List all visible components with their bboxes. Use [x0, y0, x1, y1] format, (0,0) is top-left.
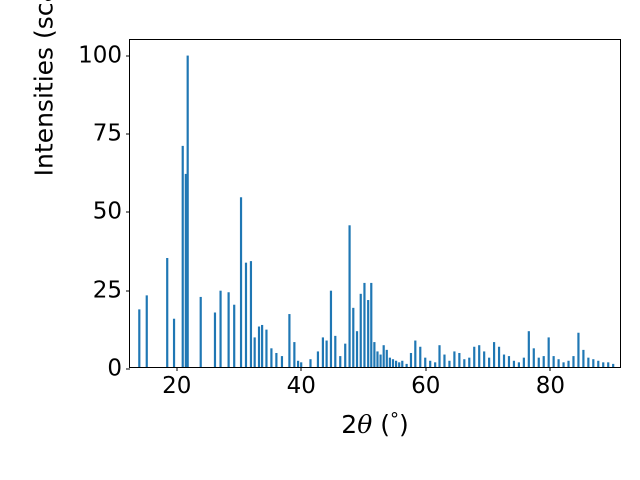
bars-layer	[130, 40, 620, 367]
bar	[523, 358, 525, 367]
bar	[562, 362, 564, 367]
bar	[379, 355, 381, 367]
bar	[200, 297, 202, 367]
bar	[587, 358, 589, 367]
bar	[488, 358, 490, 367]
bar	[352, 308, 354, 367]
bar	[406, 364, 408, 367]
y-axis-tick-mark	[126, 212, 130, 213]
bar	[370, 283, 372, 367]
y-axis-tick-mark	[126, 369, 130, 370]
bar	[261, 325, 263, 367]
bar	[543, 356, 545, 367]
bar	[258, 327, 260, 367]
bar	[429, 361, 431, 367]
bar	[182, 146, 184, 367]
bar	[538, 358, 540, 367]
bar	[410, 353, 412, 367]
bar	[138, 309, 140, 367]
plot-area	[130, 40, 620, 367]
bar	[518, 362, 520, 367]
bar	[146, 295, 148, 367]
y-axis-tick-mark	[126, 55, 130, 56]
bar	[330, 291, 332, 367]
bar	[607, 362, 609, 367]
bar	[326, 341, 328, 367]
bar	[363, 283, 365, 367]
bar	[468, 358, 470, 367]
bar	[453, 351, 455, 367]
bar	[275, 353, 277, 367]
bar	[334, 336, 336, 367]
bar	[473, 347, 475, 367]
y-axis-tick-mark	[126, 134, 130, 135]
bar	[443, 355, 445, 367]
bar	[602, 362, 604, 367]
bar	[281, 356, 283, 367]
x-axis-tick-label: 20	[162, 375, 191, 398]
xlabel-close-paren: )	[399, 410, 409, 439]
bar	[376, 351, 378, 367]
bar	[309, 359, 311, 367]
bar	[317, 351, 319, 367]
bar	[503, 355, 505, 367]
y-axis-tick-label: 50	[93, 201, 122, 224]
plot-axes-frame: 0255075100 20406080	[129, 39, 621, 368]
xlabel-theta-symbol: θ	[357, 410, 372, 439]
bar	[339, 356, 341, 367]
xlabel-open-paren: (	[372, 410, 390, 439]
bar	[360, 294, 362, 367]
bar	[185, 174, 187, 367]
bar	[419, 347, 421, 367]
bar	[297, 361, 299, 367]
bar	[356, 331, 358, 367]
y-axis-tick-label: 100	[78, 44, 122, 67]
bar	[434, 362, 436, 367]
bar	[401, 361, 403, 367]
bar	[187, 56, 189, 367]
x-axis-tick-mark	[301, 367, 302, 371]
bar	[553, 356, 555, 367]
bar	[386, 350, 388, 367]
bar	[448, 361, 450, 367]
bar	[438, 345, 440, 367]
bar	[228, 292, 230, 367]
bar	[344, 344, 346, 367]
bar	[478, 345, 480, 367]
bar	[348, 225, 350, 367]
bar	[528, 331, 530, 367]
y-axis-tick-label: 0	[107, 358, 122, 381]
y-axis-tick-label: 25	[93, 279, 122, 302]
bar	[548, 337, 550, 367]
bar	[219, 291, 221, 367]
bar	[383, 345, 385, 367]
bar	[597, 361, 599, 367]
x-axis-tick-mark	[425, 367, 426, 371]
bar	[533, 348, 535, 367]
y-axis-tick-label: 75	[93, 123, 122, 146]
xrd-figure: 0255075100 20406080 2θ (°) Intensities (…	[0, 0, 640, 480]
bar	[270, 348, 272, 367]
bar	[389, 358, 391, 367]
bar	[508, 356, 510, 367]
bar	[557, 359, 559, 367]
bar	[395, 361, 397, 367]
x-axis-tick-label: 40	[287, 375, 316, 398]
bar	[166, 258, 168, 367]
bar	[233, 305, 235, 367]
x-axis-tick-mark	[550, 367, 551, 371]
bar	[288, 314, 290, 367]
xlabel-prefix: 2	[341, 410, 357, 439]
bar	[398, 362, 400, 367]
bar	[265, 330, 267, 367]
y-axis-tick-mark	[126, 290, 130, 291]
bar	[424, 358, 426, 367]
bar	[173, 319, 175, 367]
bar	[293, 342, 295, 367]
x-axis-tick-label: 80	[536, 375, 565, 398]
bar	[577, 333, 579, 367]
bar	[612, 364, 614, 367]
bar	[567, 361, 569, 367]
bar	[322, 337, 324, 367]
bar	[483, 351, 485, 367]
bar	[367, 300, 369, 367]
bar	[392, 359, 394, 367]
xlabel-degree-symbol: °	[390, 409, 399, 430]
bar	[373, 342, 375, 367]
x-axis-tick-label: 60	[411, 375, 440, 398]
x-axis-label: 2θ (°)	[129, 410, 621, 439]
bar	[493, 342, 495, 367]
bar	[250, 261, 252, 367]
bar	[254, 337, 256, 367]
bar	[245, 263, 247, 367]
bar	[572, 356, 574, 367]
bar	[414, 341, 416, 367]
bar	[592, 359, 594, 367]
y-axis-label: Intensities (scaled)	[30, 0, 58, 218]
bar	[513, 361, 515, 367]
bar	[582, 350, 584, 367]
bar	[214, 313, 216, 367]
bar	[463, 359, 465, 367]
bar	[458, 353, 460, 367]
x-axis-tick-mark	[176, 367, 177, 371]
bar	[498, 347, 500, 367]
bar	[240, 197, 242, 367]
